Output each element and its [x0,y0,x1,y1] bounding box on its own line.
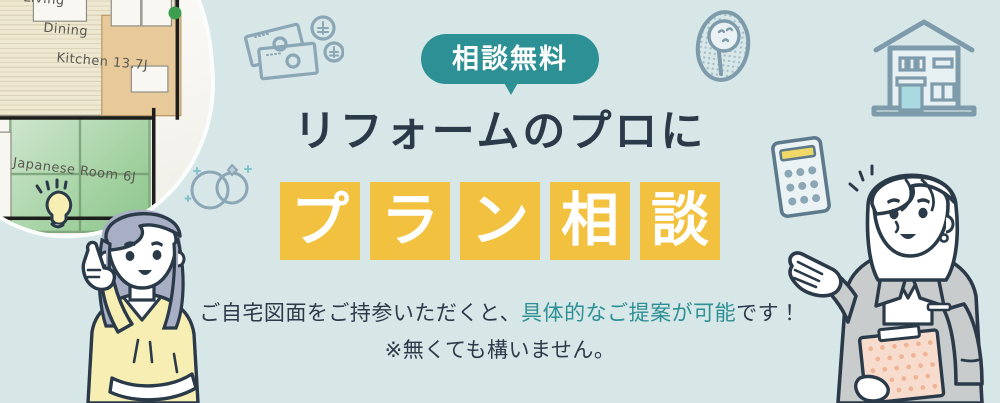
headline-tile-char: 談 [651,192,709,250]
headline-tile-char: ラ [381,192,439,250]
headline-tile-char: ン [471,192,529,250]
free-consultation-badge[interactable]: 相談無料 [421,34,599,84]
house-icon [866,16,982,118]
headline-tile-char: 相 [561,192,619,250]
headline-tile: 相 [550,182,630,260]
reform-consultation-banner: Living Dining Kitchen 13.7J Bath Room Ja… [0,0,1000,403]
badge-pointer [503,81,519,95]
woman-advisor-illustration [786,146,1000,403]
floorplan-marker-green [168,7,181,20]
badge-label: 相談無料 [452,46,568,73]
money-icon [240,12,344,86]
subtext-line1-before: ご自宅図面をご持参いただくと、 [199,302,521,325]
headline-tile: 談 [640,182,720,260]
headline-tile: ラ [370,182,450,260]
headline-tile: プ [280,182,360,260]
headline-tile: ン [460,182,540,260]
subtext-line1-highlight: 具体的なご提案が可能 [521,302,736,325]
tree-icon [694,8,754,86]
woman-pointing-illustration [58,182,226,403]
headline-tile-char: プ [291,192,349,250]
